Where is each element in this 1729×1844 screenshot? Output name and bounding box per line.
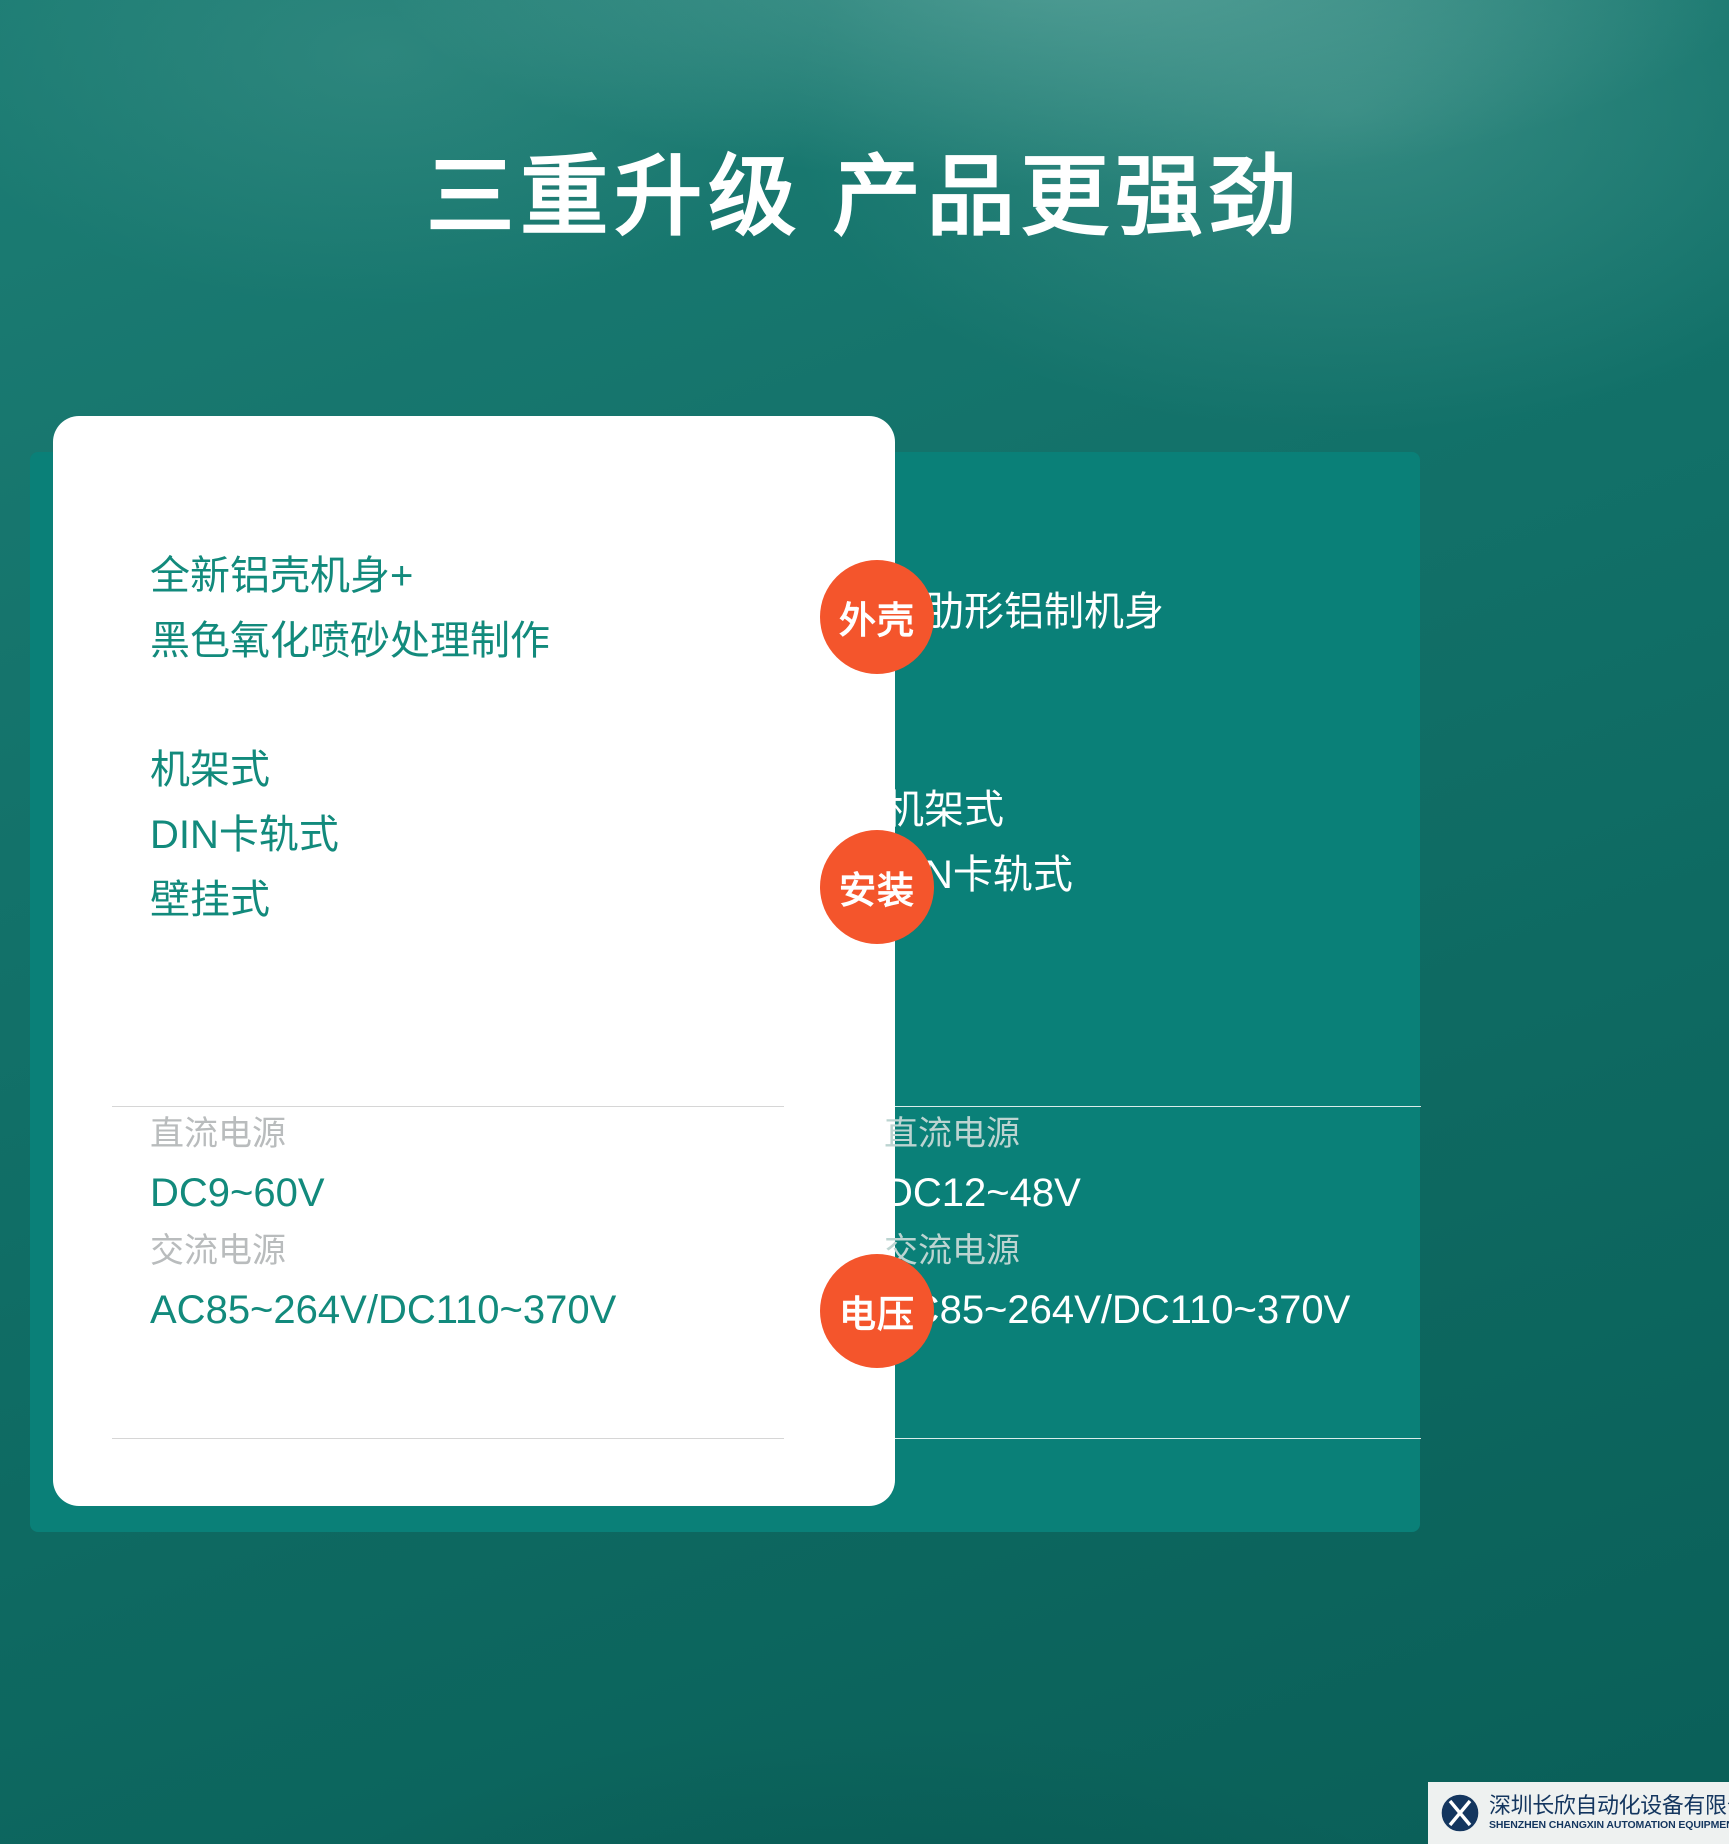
badge-mounting: 安装 — [820, 830, 934, 944]
company-name-cn: 深圳长欣自动化设备有限公司 — [1489, 1794, 1729, 1819]
row-voltage-left-ac-value: AC85~264V/DC110~370V — [150, 1278, 770, 1343]
row-voltage-right-ac-label: 交流电源 — [884, 1225, 1424, 1278]
row-voltage-left-ac-label: 交流电源 — [150, 1225, 770, 1278]
row-voltage-right-cell: 直流电源 DC12~48V 交流电源 AC85~264V/DC110~370V — [884, 1108, 1424, 1343]
row-mounting-right-line-2: DIN卡轨式 — [884, 843, 1424, 908]
badge-shell: 外壳 — [820, 560, 934, 674]
company-logo-bar: 深圳长欣自动化设备有限公司 SHENZHEN CHANGXIN AUTOMATI… — [1428, 1782, 1729, 1844]
company-mark-icon — [1438, 1791, 1482, 1835]
company-logo-texts: 深圳长欣自动化设备有限公司 SHENZHEN CHANGXIN AUTOMATI… — [1489, 1794, 1729, 1831]
row-voltage-left-dc-value: DC9~60V — [150, 1161, 770, 1226]
page-title: 三重升级 产品更强劲 — [0, 148, 1729, 247]
row-mounting-left-line-1: 机架式 — [150, 738, 770, 803]
badge-shell-label: 外壳 — [839, 590, 915, 644]
row-shell-left-cell: 全新铝壳机身+ 黑色氧化喷砂处理制作 — [150, 544, 770, 674]
badge-voltage: 电压 — [820, 1254, 934, 1368]
badge-mounting-label: 安装 — [839, 860, 915, 914]
row-voltage-right-dc-label: 直流电源 — [884, 1108, 1424, 1161]
company-name-en: SHENZHEN CHANGXIN AUTOMATION EQUIPMENT C… — [1489, 1819, 1729, 1832]
row-shell-right-cell: 单肋形铝制机身 — [884, 580, 1424, 645]
comparison-row-shell: 全新铝壳机身+ 黑色氧化喷砂处理制作 外壳 单肋形铝制机身 — [0, 476, 1729, 756]
row-voltage-right-dc-value: DC12~48V — [884, 1161, 1424, 1226]
comparison-table: 全新铝壳机身+ 黑色氧化喷砂处理制作 外壳 单肋形铝制机身 机架式 DIN卡轨式… — [0, 416, 1729, 1536]
row-mounting-left-cell: 机架式 DIN卡轨式 壁挂式 — [150, 738, 770, 932]
row-mounting-right-cell: 机架式 DIN卡轨式 — [884, 778, 1424, 908]
row-shell-left-line-2: 黑色氧化喷砂处理制作 — [150, 609, 770, 674]
row-voltage-left-cell: 直流电源 DC9~60V 交流电源 AC85~264V/DC110~370V — [150, 1108, 770, 1343]
comparison-row-voltage: 直流电源 DC9~60V 交流电源 AC85~264V/DC110~370V 电… — [0, 1146, 1729, 1536]
row-voltage-right-ac-value: AC85~264V/DC110~370V — [884, 1278, 1424, 1343]
row-mounting-right-line-1: 机架式 — [884, 778, 1424, 843]
comparison-row-mounting: 机架式 DIN卡轨式 壁挂式 安装 机架式 DIN卡轨式 — [0, 756, 1729, 1146]
row-mounting-left-line-3: 壁挂式 — [150, 868, 770, 933]
row-shell-left-line-1: 全新铝壳机身+ — [150, 544, 770, 609]
badge-voltage-label: 电压 — [839, 1284, 915, 1338]
row-shell-right-line-1: 单肋形铝制机身 — [884, 580, 1424, 645]
promo-page: 三重升级 产品更强劲 全新铝壳机身+ 黑色氧化喷砂处理制作 外壳 单肋形铝制机身… — [0, 0, 1729, 1844]
row-mounting-left-line-2: DIN卡轨式 — [150, 803, 770, 868]
row-voltage-left-dc-label: 直流电源 — [150, 1108, 770, 1161]
